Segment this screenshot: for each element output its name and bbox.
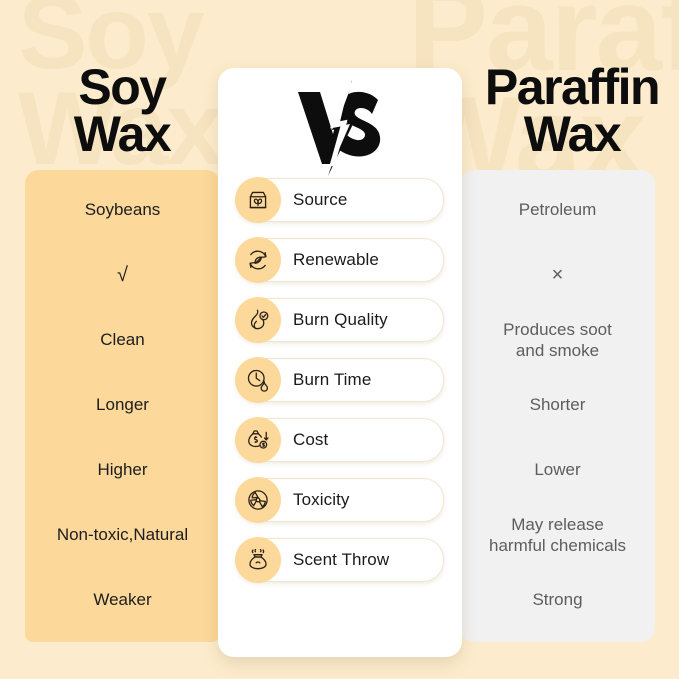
soy-value-cell: Longer bbox=[25, 373, 220, 438]
attribute-row[interactable]: Renewable bbox=[236, 238, 444, 282]
sack-of-beans-icon bbox=[235, 177, 281, 223]
soy-value-cell: √ bbox=[25, 243, 220, 308]
money-bag-icon bbox=[235, 417, 281, 463]
attribute-row[interactable]: Cost bbox=[236, 418, 444, 462]
comparison-card: Source Renewable Burn Quality Burn Time … bbox=[218, 68, 462, 657]
infographic-canvas: Soy Wax Paraffin Wax Soy Wax Paraffin Wa… bbox=[0, 0, 679, 679]
versus-lightning-icon bbox=[218, 76, 462, 180]
soy-value-cell: Higher bbox=[25, 438, 220, 503]
soy-value-cell: Weaker bbox=[25, 568, 220, 633]
soy-wax-value-panel: Soybeans√CleanLongerHigherNon-toxic,Natu… bbox=[25, 170, 220, 642]
soy-value-cell: Soybeans bbox=[25, 178, 220, 243]
attribute-row[interactable]: Source bbox=[236, 178, 444, 222]
recycle-leaf-icon bbox=[235, 237, 281, 283]
attribute-label: Burn Quality bbox=[293, 310, 388, 330]
paraffin-value-cell: Produces soot and smoke bbox=[460, 308, 655, 373]
paraffin-value-cell: May release harmful chemicals bbox=[460, 503, 655, 568]
heading-paraffin-wax: Paraffin Wax bbox=[466, 64, 678, 158]
attribute-row[interactable]: Burn Time bbox=[236, 358, 444, 402]
attribute-row[interactable]: Burn Quality bbox=[236, 298, 444, 342]
attribute-label: Toxicity bbox=[293, 490, 350, 510]
attribute-label: Cost bbox=[293, 430, 328, 450]
attribute-row-list: Source Renewable Burn Quality Burn Time … bbox=[218, 178, 462, 598]
paraffin-value-cell: Lower bbox=[460, 438, 655, 503]
paraffin-value-cell: Strong bbox=[460, 568, 655, 633]
attribute-row[interactable]: Toxicity bbox=[236, 478, 444, 522]
attribute-label: Source bbox=[293, 190, 347, 210]
soy-value-cell: Clean bbox=[25, 308, 220, 373]
radiation-icon bbox=[235, 477, 281, 523]
paraffin-value-cell: Shorter bbox=[460, 373, 655, 438]
attribute-label: Renewable bbox=[293, 250, 379, 270]
attribute-label: Burn Time bbox=[293, 370, 371, 390]
scented-sack-icon bbox=[235, 537, 281, 583]
soy-value-cell: Non-toxic,Natural bbox=[25, 503, 220, 568]
attribute-row[interactable]: Scent Throw bbox=[236, 538, 444, 582]
flame-check-icon bbox=[235, 297, 281, 343]
paraffin-value-cell: × bbox=[460, 243, 655, 308]
attribute-label: Scent Throw bbox=[293, 550, 389, 570]
paraffin-value-cell: Petroleum bbox=[460, 178, 655, 243]
heading-soy-wax: Soy Wax bbox=[62, 64, 182, 158]
clock-flame-icon bbox=[235, 357, 281, 403]
paraffin-wax-value-panel: Petroleum×Produces soot and smokeShorter… bbox=[460, 170, 655, 642]
